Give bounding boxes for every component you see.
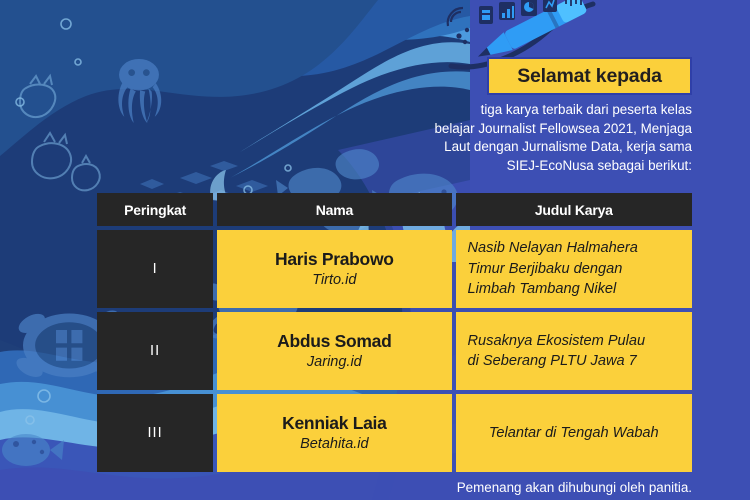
intro-line-3: Laut dengan Jurnalisme Data, kerja sama: [356, 138, 692, 157]
rank-cell: III: [97, 394, 213, 472]
name-cell: Kenniak Laia Betahita.id: [217, 394, 451, 472]
winner-media: Tirto.id: [312, 270, 356, 290]
column-header-judul-karya-label: Judul Karya: [535, 202, 613, 218]
work-title-cell: Telantar di Tengah Wabah: [456, 394, 692, 472]
work-title-cell: Nasib Nelayan Halmahera Timur Berjibaku …: [456, 230, 692, 308]
headline-banner: Selamat kepada: [487, 57, 692, 95]
rank-value: II: [150, 343, 160, 359]
column-header-peringkat-label: Peringkat: [124, 202, 186, 218]
rank-value: I: [153, 261, 158, 277]
table-row: II Abdus Somad Jaring.id Rusaknya Ekosis…: [97, 312, 692, 390]
work-title: Telantar di Tengah Wabah: [468, 423, 680, 444]
intro-line-2: belajar Journalist Fellowsea 2021, Menja…: [356, 120, 692, 139]
table-row: I Haris Prabowo Tirto.id Nasib Nelayan H…: [97, 230, 692, 308]
winner-name: Haris Prabowo: [275, 248, 394, 270]
rank-value: III: [148, 425, 163, 441]
table-header-row: Peringkat Nama Judul Karya: [97, 193, 692, 226]
table-row: III Kenniak Laia Betahita.id Telantar di…: [97, 394, 692, 472]
winner-name: Abdus Somad: [277, 330, 391, 352]
column-header-judul-karya: Judul Karya: [456, 193, 692, 226]
name-cell: Haris Prabowo Tirto.id: [217, 230, 451, 308]
intro-line-4: SIEJ-EcoNusa sebagai berikut:: [356, 157, 692, 176]
work-title-line: Rusaknya Ekosistem Pulau: [468, 331, 680, 352]
column-header-nama-label: Nama: [316, 202, 353, 218]
headline-banner-text: Selamat kepada: [517, 65, 662, 88]
column-header-nama: Nama: [217, 193, 451, 226]
work-title-line: Telantar di Tengah Wabah: [468, 423, 680, 444]
work-title-line: di Seberang PLTU Jawa 7: [468, 351, 680, 372]
winner-media: Betahita.id: [300, 434, 369, 454]
name-cell: Abdus Somad Jaring.id: [217, 312, 451, 390]
work-title: Nasib Nelayan Halmahera Timur Berjibaku …: [468, 238, 680, 300]
work-title-cell: Rusaknya Ekosistem Pulau di Seberang PLT…: [456, 312, 692, 390]
winners-table: Peringkat Nama Judul Karya I Haris Prabo…: [97, 193, 692, 476]
rank-cell: II: [97, 312, 213, 390]
winner-media: Jaring.id: [307, 352, 362, 372]
work-title-line: Timur Berjibaku dengan: [468, 259, 680, 280]
rank-cell: I: [97, 230, 213, 308]
intro-paragraph: tiga karya terbaik dari peserta kelas be…: [356, 101, 692, 175]
poster-canvas: Selamat kepada tiga karya terbaik dari p…: [0, 0, 750, 500]
footer-note: Pemenang akan dihubungi oleh panitia.: [457, 480, 692, 495]
intro-line-1: tiga karya terbaik dari peserta kelas: [356, 101, 692, 120]
winner-name: Kenniak Laia: [282, 412, 386, 434]
work-title-line: Limbah Tambang Nikel: [468, 279, 680, 300]
work-title: Rusaknya Ekosistem Pulau di Seberang PLT…: [468, 331, 680, 372]
work-title-line: Nasib Nelayan Halmahera: [468, 238, 680, 259]
column-header-peringkat: Peringkat: [97, 193, 213, 226]
